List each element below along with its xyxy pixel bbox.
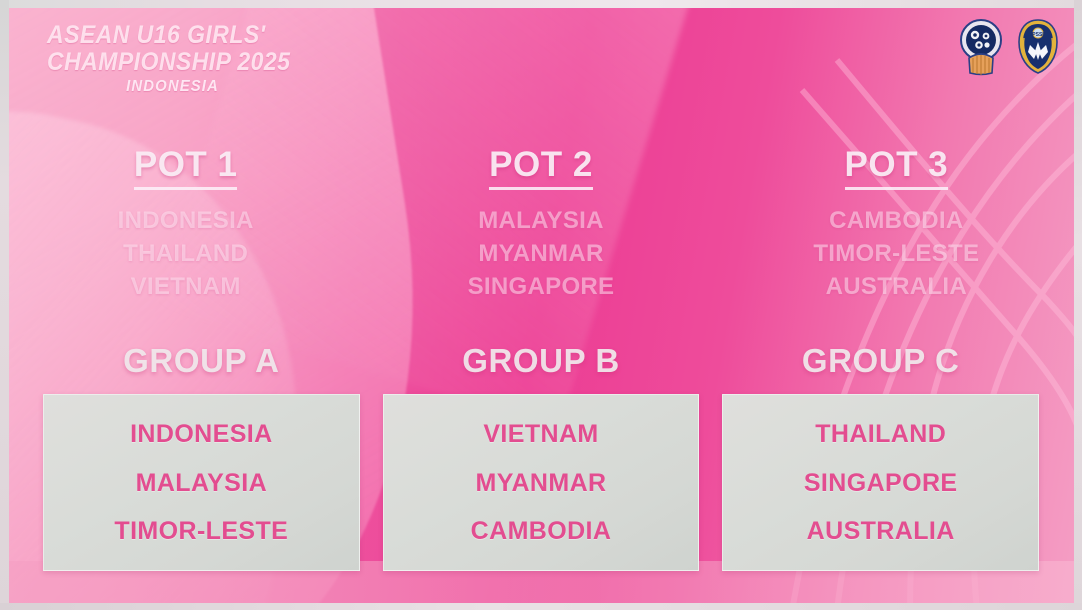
- pot-2-title: POT 2: [489, 146, 593, 190]
- group-team-item: MYANMAR: [475, 468, 606, 498]
- frame-top-edge: [0, 0, 1082, 8]
- pot-column-3: POT 3 CAMBODIA TIMOR-LESTE AUSTRALIA: [719, 146, 1074, 303]
- frame-right-edge: [1074, 0, 1082, 610]
- pot-column-1: POT 1 INDONESIA THAILAND VIETNAM: [8, 146, 363, 303]
- event-title-block: ASEAN U16 GIRLS' CHAMPIONSHIP 2025 INDON…: [47, 22, 477, 96]
- group-c-panel: THAILAND SINGAPORE AUSTRALIA: [722, 394, 1039, 571]
- pot-1-team-list: INDONESIA THAILAND VIETNAM: [8, 204, 363, 303]
- group-b-panel: VIETNAM MYANMAR CAMBODIA: [383, 394, 700, 571]
- pots-section: POT 1 INDONESIA THAILAND VIETNAM POT 2 M…: [8, 146, 1074, 303]
- pot-column-2: POT 2 MALAYSIA MYANMAR SINGAPORE: [363, 146, 718, 303]
- event-host-country: INDONESIA: [47, 78, 298, 96]
- event-title-line-1: ASEAN U16 GIRLS': [47, 22, 443, 49]
- pot-3-team-list: CAMBODIA TIMOR-LESTE AUSTRALIA: [719, 204, 1074, 303]
- group-c-title: GROUP C: [802, 341, 960, 381]
- group-team-item: INDONESIA: [130, 419, 273, 449]
- pot-team-item: MYANMAR: [363, 237, 718, 270]
- group-team-item: THAILAND: [815, 419, 946, 449]
- broadcast-graphic: ASEAN U16 GIRLS' CHAMPIONSHIP 2025 INDON…: [0, 0, 1082, 610]
- event-title-line-2: CHAMPIONSHIP 2025: [47, 49, 443, 76]
- group-b-title: GROUP B: [462, 341, 620, 381]
- pssi-emblem-icon: PSSI: [1016, 18, 1060, 76]
- group-a-panel: INDONESIA MALAYSIA TIMOR-LESTE: [43, 394, 360, 571]
- group-column-a: GROUP A INDONESIA MALAYSIA TIMOR-LESTE: [43, 341, 360, 571]
- pot-1-title: POT 1: [134, 146, 238, 190]
- pot-team-item: CAMBODIA: [719, 204, 1074, 237]
- frame-bottom-edge: [0, 603, 1082, 610]
- groups-section: GROUP A INDONESIA MALAYSIA TIMOR-LESTE G…: [8, 341, 1074, 571]
- pot-team-item: VIETNAM: [8, 270, 363, 303]
- group-team-item: VIETNAM: [483, 419, 598, 449]
- aff-emblem-icon: [959, 18, 1003, 76]
- pot-team-item: THAILAND: [8, 237, 363, 270]
- svg-text:PSSI: PSSI: [1032, 32, 1044, 38]
- group-team-item: MALAYSIA: [136, 468, 267, 498]
- pot-team-item: MALAYSIA: [363, 204, 718, 237]
- group-column-c: GROUP C THAILAND SINGAPORE AUSTRALIA: [722, 341, 1039, 571]
- pot-3-title: POT 3: [845, 146, 949, 190]
- pot-team-item: TIMOR-LESTE: [719, 237, 1074, 270]
- group-team-item: TIMOR-LESTE: [114, 516, 288, 546]
- pot-2-team-list: MALAYSIA MYANMAR SINGAPORE: [363, 204, 718, 303]
- emblem-group: PSSI: [959, 18, 1060, 76]
- pot-team-item: AUSTRALIA: [719, 270, 1074, 303]
- group-column-b: GROUP B VIETNAM MYANMAR CAMBODIA: [383, 341, 700, 571]
- group-team-item: SINGAPORE: [804, 468, 958, 498]
- pot-team-item: SINGAPORE: [363, 270, 718, 303]
- group-team-item: AUSTRALIA: [807, 516, 955, 546]
- group-team-item: CAMBODIA: [471, 516, 612, 546]
- pot-team-item: INDONESIA: [8, 204, 363, 237]
- group-a-title: GROUP A: [123, 341, 279, 381]
